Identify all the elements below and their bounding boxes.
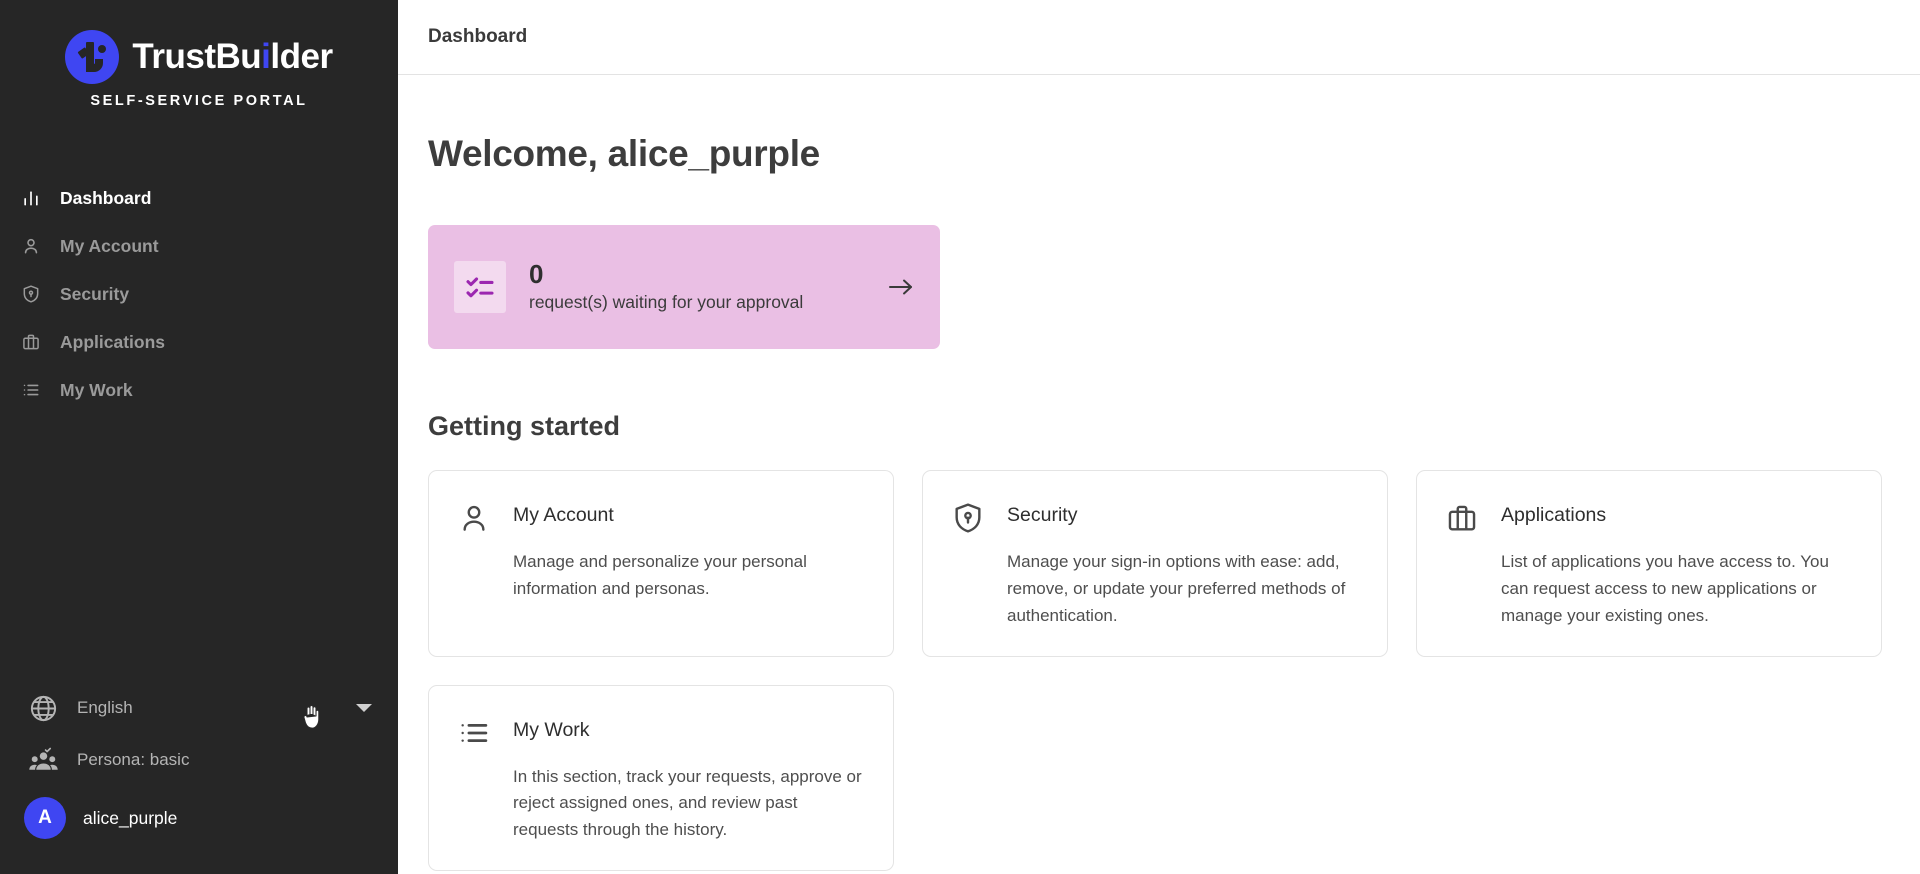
- card-title: Applications: [1501, 499, 1606, 527]
- sidebar: TrustBuilder SELF-SERVICE PORTAL Dashboa…: [0, 0, 398, 874]
- sidebar-item-label: Security: [60, 284, 129, 305]
- card-title: Security: [1007, 499, 1077, 527]
- card-my-account[interactable]: My Account Manage and personalize your p…: [428, 470, 894, 657]
- briefcase-icon: [1445, 501, 1479, 535]
- briefcase-icon: [20, 331, 42, 353]
- getting-started-heading: Getting started: [428, 411, 1920, 442]
- arrow-right-icon[interactable]: [886, 275, 916, 299]
- approval-requests-card[interactable]: 0 request(s) waiting for your approval: [428, 225, 940, 349]
- shield-lock-icon: [951, 501, 985, 535]
- checklist-icon: [454, 261, 506, 313]
- welcome-heading: Welcome, alice_purple: [428, 133, 1920, 175]
- main-content: Dashboard Welcome, alice_purple 0 reques…: [398, 0, 1920, 874]
- card-description: List of applications you have access to.…: [1501, 549, 1851, 630]
- card-applications[interactable]: Applications List of applications you ha…: [1416, 470, 1882, 657]
- group-users-icon: [28, 745, 59, 776]
- content-area: Welcome, alice_purple 0 request(s) waiti…: [398, 75, 1920, 871]
- user-icon: [20, 235, 42, 257]
- card-security[interactable]: Security Manage your sign-in options wit…: [922, 470, 1388, 657]
- sidebar-item-my-work[interactable]: My Work: [0, 366, 398, 414]
- sidebar-item-dashboard[interactable]: Dashboard: [0, 174, 398, 222]
- getting-started-cards: My Account Manage and personalize your p…: [428, 470, 1920, 871]
- card-my-work[interactable]: My Work In this section, track your requ…: [428, 685, 894, 872]
- avatar: A: [24, 797, 66, 839]
- sidebar-item-label: My Account: [60, 236, 159, 257]
- shield-icon: [20, 283, 42, 305]
- sidebar-spacer: [0, 414, 398, 686]
- user-profile[interactable]: A alice_purple: [0, 790, 398, 846]
- list-icon: [20, 379, 42, 401]
- brand-name-part1: TrustBu: [132, 37, 261, 76]
- sidebar-item-my-account[interactable]: My Account: [0, 222, 398, 270]
- page-title: Dashboard: [428, 26, 527, 48]
- card-description: Manage and personalize your personal inf…: [513, 549, 863, 603]
- brand-name: TrustBuilder: [132, 37, 332, 77]
- brand-name-dot: i: [261, 37, 270, 76]
- chart-bars-icon: [20, 187, 42, 209]
- app-root: TrustBuilder SELF-SERVICE PORTAL Dashboa…: [0, 0, 1920, 874]
- brand-name-part2: lder: [270, 37, 332, 76]
- brand-logo[interactable]: TrustBuilder SELF-SERVICE PORTAL: [0, 0, 398, 109]
- list-icon: [457, 716, 491, 750]
- top-bar: Dashboard: [398, 0, 1920, 75]
- sidebar-item-label: Dashboard: [60, 188, 151, 209]
- sidebar-item-label: My Work: [60, 380, 133, 401]
- user-icon: [457, 501, 491, 535]
- approval-description: request(s) waiting for your approval: [529, 292, 803, 313]
- approval-count: 0: [529, 261, 803, 287]
- persona-label: Persona: basic: [77, 750, 189, 770]
- card-title: My Work: [513, 714, 590, 742]
- brand-subtitle: SELF-SERVICE PORTAL: [0, 93, 398, 109]
- trustbuilder-logo-icon: [65, 30, 119, 84]
- card-description: Manage your sign-in options with ease: a…: [1007, 549, 1357, 630]
- user-name: alice_purple: [83, 808, 177, 829]
- card-title: My Account: [513, 499, 614, 527]
- sidebar-nav: Dashboard My Account Security: [0, 174, 398, 414]
- sidebar-item-security[interactable]: Security: [0, 270, 398, 318]
- sidebar-item-label: Applications: [60, 332, 165, 353]
- globe-icon: [28, 693, 59, 724]
- chevron-down-icon[interactable]: [356, 704, 372, 712]
- hand-pointer-cursor: [300, 704, 322, 730]
- sidebar-item-applications[interactable]: Applications: [0, 318, 398, 366]
- sidebar-footer: English: [0, 686, 398, 874]
- language-label: English: [77, 698, 133, 718]
- card-description: In this section, track your requests, ap…: [513, 764, 863, 845]
- language-selector[interactable]: English: [0, 686, 398, 730]
- persona-selector[interactable]: Persona: basic: [0, 738, 398, 782]
